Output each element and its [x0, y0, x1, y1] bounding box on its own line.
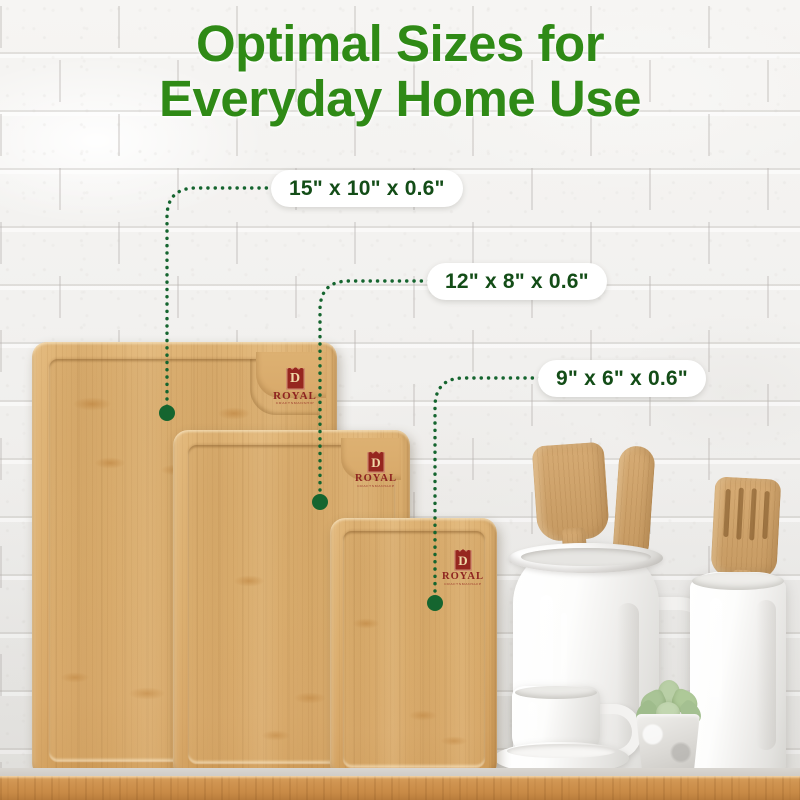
concrete-planter: [636, 714, 700, 774]
callout-pill-small[interactable]: 9" x 6" x 0.6": [538, 360, 706, 397]
callout-label-small: 9" x 6" x 0.6": [556, 367, 688, 391]
callout-label-large: 15" x 10" x 0.6": [289, 177, 445, 201]
callout-pill-medium[interactable]: 12" x 8" x 0.6": [427, 263, 607, 300]
wood-countertop: [0, 776, 800, 800]
page-title: Optimal Sizes for Everyday Home Use: [0, 16, 800, 126]
title-line-2: Everyday Home Use: [0, 71, 800, 126]
cutting-board-small[interactable]: D ROYAL CRAFTSMANSHIP: [330, 518, 497, 778]
title-line-1: Optimal Sizes for: [196, 15, 604, 72]
product-infographic: Optimal Sizes for Everyday Home Use: [0, 0, 800, 800]
callout-label-medium: 12" x 8" x 0.6": [445, 270, 589, 294]
board-bevel-small: [330, 518, 497, 778]
ceramic-utensil-vase: [690, 572, 786, 775]
counter-highlight: [0, 776, 800, 779]
callout-pill-large[interactable]: 15" x 10" x 0.6": [271, 170, 463, 207]
